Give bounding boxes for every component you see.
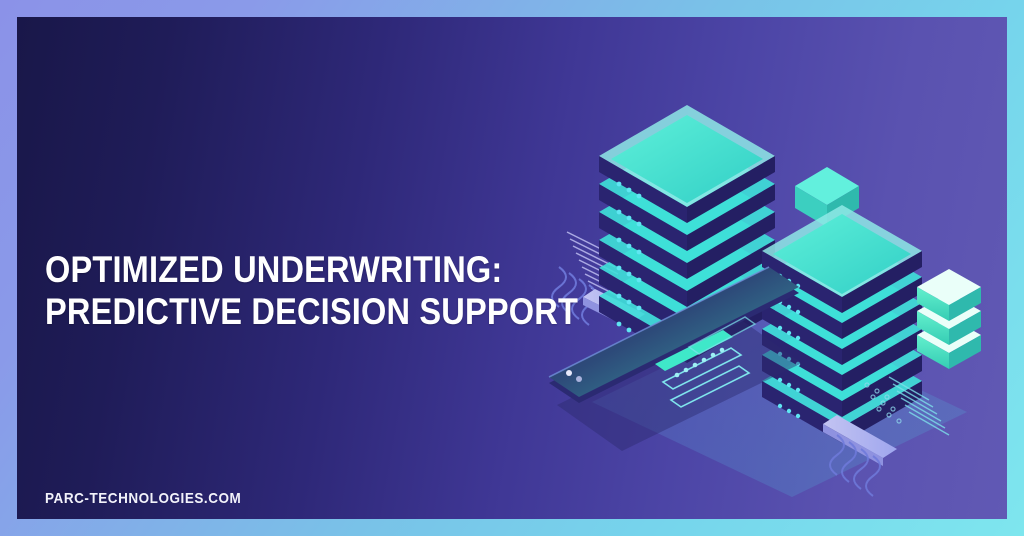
website-url[interactable]: parc-technologies.com	[45, 490, 241, 507]
banner-frame: Optimized Underwriting: Predictive Decis…	[0, 0, 1024, 536]
isometric-data-center-illustration	[537, 17, 1007, 519]
title-line-2: Predictive Decision Support	[45, 291, 503, 333]
server-stack-short	[762, 205, 922, 443]
title-line-1: Optimized Underwriting:	[45, 249, 503, 291]
cube-stack-mint	[917, 269, 981, 369]
camera-dot	[576, 376, 582, 382]
page-title: Optimized Underwriting: Predictive Decis…	[45, 249, 503, 333]
camera-dot	[566, 370, 572, 376]
banner-panel: Optimized Underwriting: Predictive Decis…	[17, 17, 1007, 519]
